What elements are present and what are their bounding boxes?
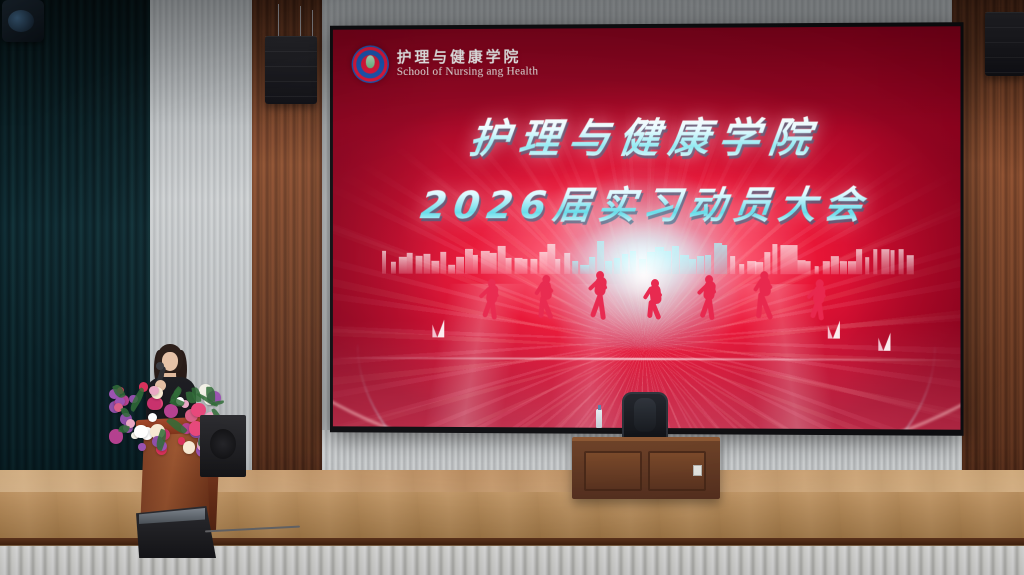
- skyline-building: [865, 257, 870, 274]
- line-array-loudspeaker-left: [265, 36, 317, 104]
- skyline-building: [448, 265, 455, 274]
- executive-chair: [622, 392, 668, 440]
- podium-area: [100, 330, 275, 550]
- skyline-building: [873, 249, 877, 274]
- stage-light-fixture: [2, 0, 44, 42]
- skyline-building: [840, 261, 848, 274]
- line-array-loudspeaker-right: [985, 12, 1024, 76]
- skyline-building: [899, 249, 904, 274]
- desk-panel-left: [584, 451, 642, 491]
- school-name-en: School of Nursing ang Health: [397, 65, 538, 78]
- screen-title-line-1: 护理与健康学院: [333, 103, 961, 165]
- skyline-building: [423, 254, 430, 274]
- skyline-building: [882, 249, 889, 274]
- school-logo: 护理与健康学院 School of Nursing ang Health: [351, 45, 538, 84]
- flower: [148, 413, 157, 422]
- skyline-building: [399, 257, 407, 274]
- runner-silhouette: [586, 266, 619, 320]
- screen-title-block: 护理与健康学院 2026届实习动员大会: [333, 103, 961, 229]
- skyline-building: [391, 262, 396, 273]
- school-name-cn: 护理与健康学院: [397, 50, 538, 66]
- skyline-building: [432, 261, 440, 274]
- auditorium-scene: 护理与健康学院 School of Nursing ang Health 护理与…: [0, 0, 1024, 575]
- sailboat-graphic: [827, 320, 843, 340]
- skyline-building: [831, 256, 839, 274]
- water-bottle: [596, 409, 602, 428]
- skyline-building: [415, 256, 423, 274]
- wall-outlet: [693, 465, 702, 476]
- flower: [183, 441, 195, 453]
- speaker-hang-cable: [300, 6, 301, 38]
- led-backdrop-screen: 护理与健康学院 School of Nursing ang Health 护理与…: [330, 22, 964, 436]
- runner-silhouette: [805, 274, 838, 320]
- skyline-building: [848, 262, 856, 275]
- skyline-building: [856, 249, 862, 275]
- sailboat-graphic: [878, 333, 894, 353]
- skyline-building: [440, 252, 446, 274]
- screen-title-line-2: 2026届实习动员大会: [333, 174, 961, 229]
- runner-silhouette: [750, 266, 783, 320]
- school-emblem-icon: [351, 45, 388, 83]
- skyline-building: [890, 250, 894, 274]
- school-logo-text: 护理与健康学院 School of Nursing ang Health: [397, 50, 538, 78]
- runner-silhouettes-graphic: [463, 224, 827, 320]
- led-screen-content: 护理与健康学院 School of Nursing ang Health 护理与…: [333, 26, 961, 429]
- speaker-hang-cable: [312, 10, 313, 38]
- sailboat-graphic: [432, 319, 448, 339]
- runner-silhouette: [695, 270, 728, 320]
- skyline-building: [407, 252, 413, 273]
- skyline-building: [907, 255, 914, 275]
- microphone-head-icon: [156, 362, 164, 370]
- floor-loudspeaker: [200, 415, 246, 477]
- flower: [138, 443, 146, 451]
- runner-silhouette: [477, 274, 509, 320]
- flower: [149, 386, 159, 396]
- runner-silhouette: [532, 270, 565, 320]
- runner-silhouette: [640, 274, 673, 320]
- foliage-leaf: [211, 400, 225, 405]
- skyline-building: [382, 251, 386, 274]
- speaker-hang-cable: [278, 4, 279, 38]
